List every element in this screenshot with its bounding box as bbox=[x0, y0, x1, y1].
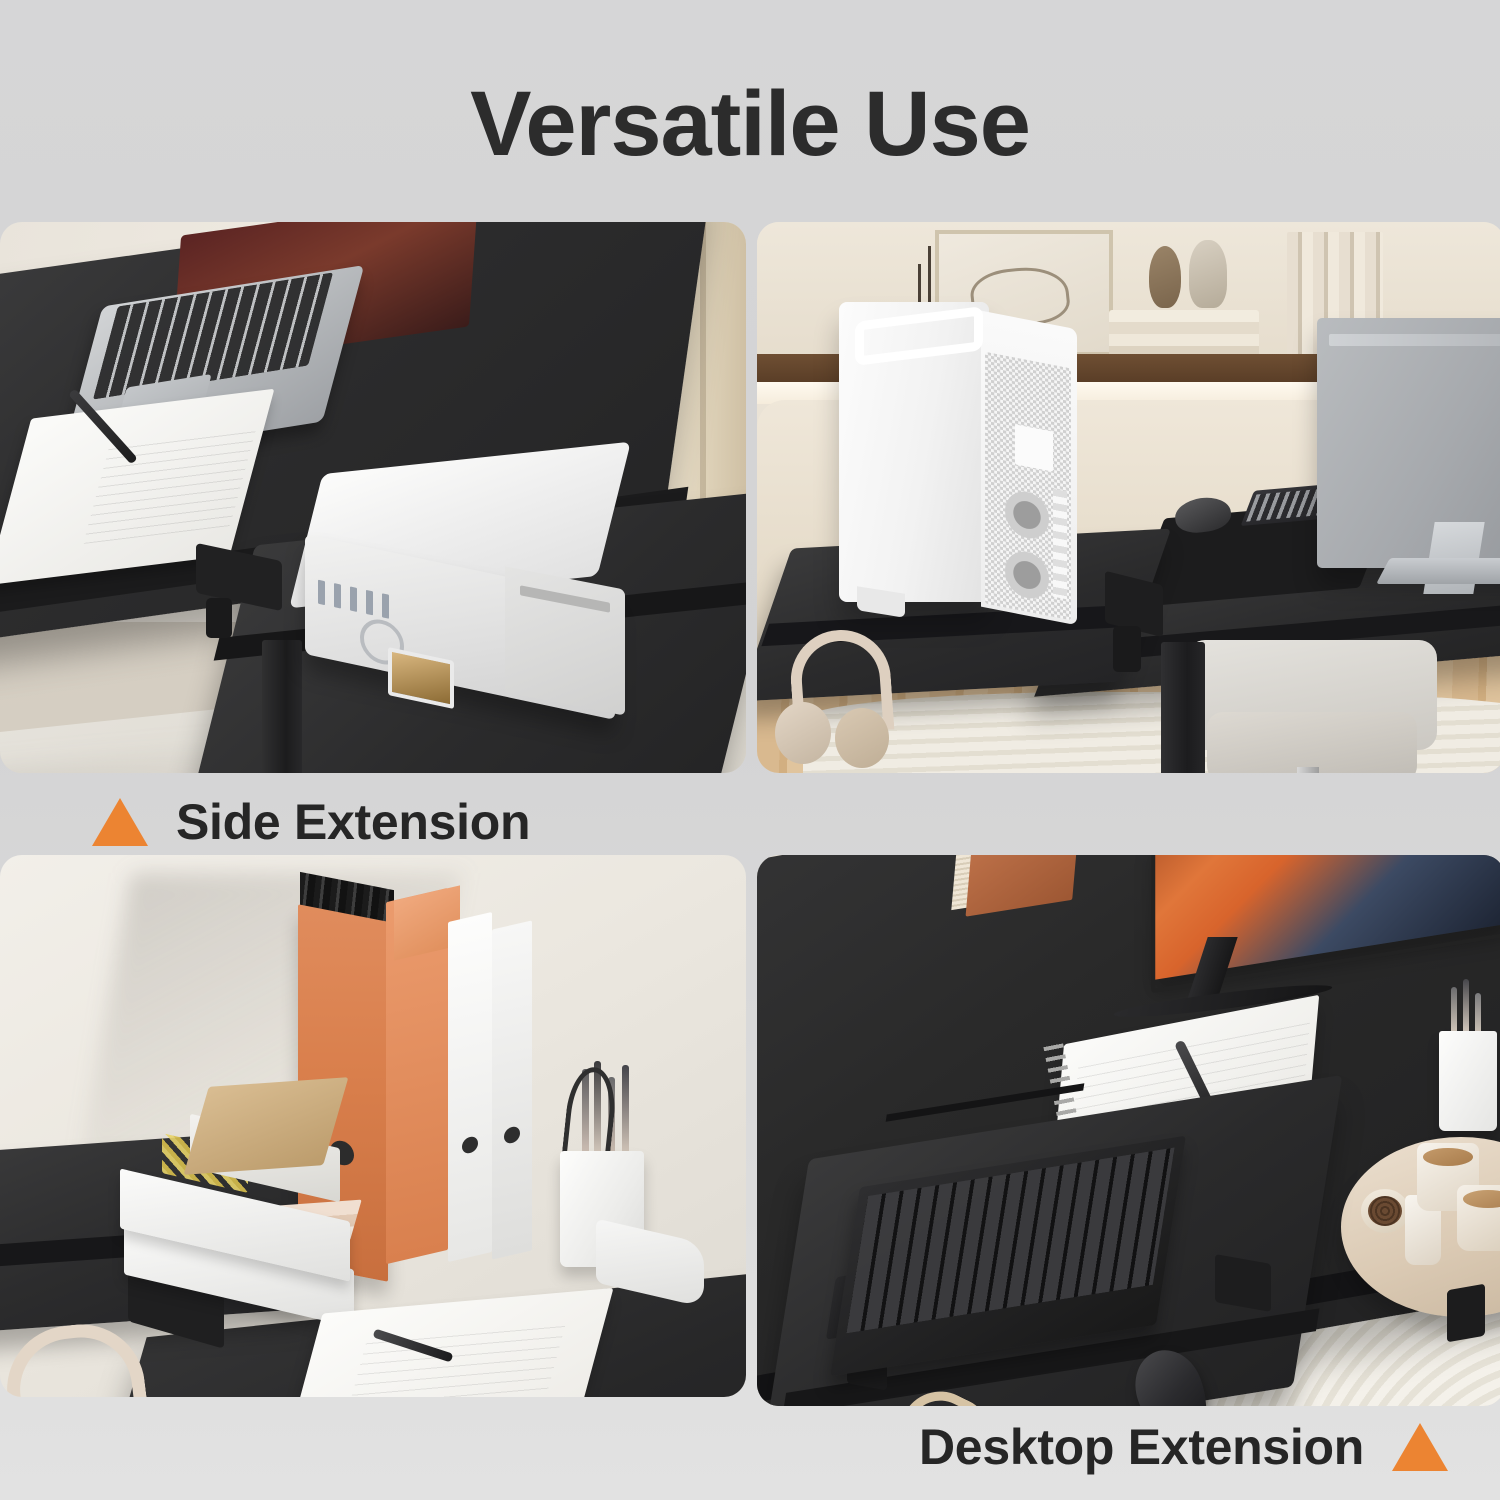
tray-clamp-knob bbox=[1113, 626, 1141, 672]
panel-desktop-extension-keyboard-tray bbox=[757, 855, 1500, 1406]
caption-desktop-extension: Desktop Extension bbox=[919, 1418, 1448, 1476]
pc-tower-ports bbox=[1053, 489, 1067, 600]
desk-clamp bbox=[1447, 1284, 1485, 1343]
tray-bracket-right bbox=[1215, 1254, 1271, 1312]
monitor-vent-strip bbox=[1329, 334, 1500, 346]
headphones-earcup-right bbox=[835, 708, 889, 768]
vase-dark bbox=[1149, 246, 1181, 308]
office-chair-gas-lift bbox=[1297, 767, 1319, 773]
caption-side-extension-label: Side Extension bbox=[176, 793, 530, 851]
pen-cup bbox=[1439, 1031, 1497, 1131]
snack-bowl bbox=[1361, 1189, 1409, 1233]
magazine-file-white-2 bbox=[492, 920, 532, 1259]
desk-leg bbox=[1161, 642, 1205, 773]
coffee-cup-2 bbox=[1457, 1185, 1500, 1251]
page-title: Versatile Use bbox=[0, 78, 1500, 170]
scene-desktop-extension-keyboard-tray bbox=[757, 855, 1500, 1406]
monitor-base bbox=[1376, 558, 1500, 584]
scene-side-extension-pc-tower bbox=[757, 222, 1500, 773]
tray-clamp-knob bbox=[206, 598, 232, 638]
scene-desktop-extension-organizers bbox=[0, 855, 746, 1397]
scene-side-extension-printer bbox=[0, 222, 746, 773]
caption-desktop-extension-label: Desktop Extension bbox=[919, 1418, 1364, 1476]
book-stack bbox=[1109, 310, 1259, 358]
vase-light bbox=[1189, 240, 1227, 308]
infographic-page: Versatile Use bbox=[0, 0, 1500, 1500]
panel-side-extension-printer bbox=[0, 222, 746, 773]
headphones-earcup-left bbox=[775, 702, 831, 764]
triangle-up-icon bbox=[92, 798, 148, 846]
office-chair-seat bbox=[1207, 712, 1417, 773]
pc-tower-label bbox=[1015, 424, 1053, 471]
desk-leg bbox=[262, 640, 302, 773]
magazine-file-white-1 bbox=[448, 912, 492, 1262]
caption-side-extension: Side Extension bbox=[92, 793, 530, 851]
panel-side-extension-pc-tower bbox=[757, 222, 1500, 773]
wooden-accessory-tray bbox=[184, 1077, 349, 1175]
pens-in-cup bbox=[1443, 977, 1497, 1039]
triangle-up-icon bbox=[1392, 1423, 1448, 1471]
panel-desktop-extension-organizers bbox=[0, 855, 746, 1397]
